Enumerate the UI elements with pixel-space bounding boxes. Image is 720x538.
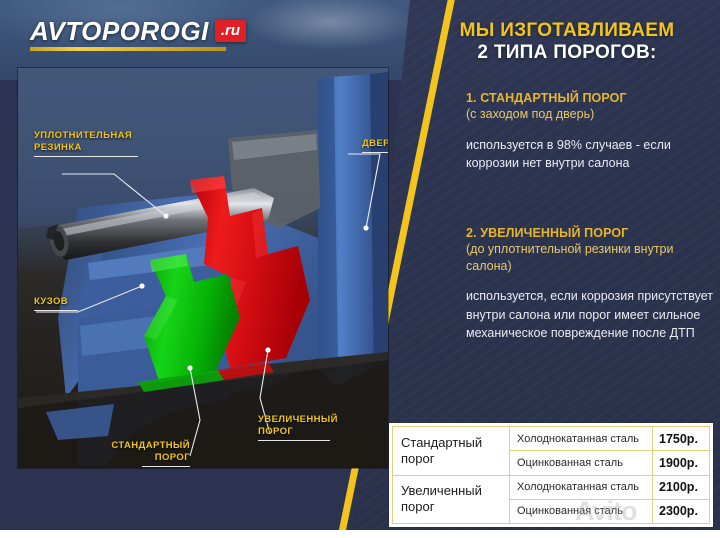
sill-type-1-subtitle: (с заходом под дверь) [466,106,714,123]
label-body-underline [34,310,78,311]
label-enlarged-underline [258,440,330,441]
headline-line2: 2 ТИПА ПОРОГОВ: [428,42,706,64]
sill-type-2-title: 2. УВЕЛИЧЕННЫЙ ПОРОГ [466,225,714,241]
label-enlarged-sill-line1: УВЕЛИЧЕННЫЙ [258,414,338,425]
price-g1-value-1: 1750р. [653,427,710,451]
sill-diagram-illustration [18,68,388,468]
logo-wordmark: AVTOPOROGI [30,18,209,44]
label-door-underline [362,152,388,153]
price-g2-value-2: 2300р. [653,499,710,523]
price-g2-material-1: Холоднокатанная сталь [510,475,653,499]
logo-underline [30,47,226,51]
table-row: Увеличенный порог Холоднокатанная сталь … [393,475,710,499]
logo-row: AVTOPOROGI .ru [30,18,246,44]
table-row: Стандартный порог Холоднокатанная сталь … [393,427,710,451]
label-seal-rubber-line1: УПЛОТНИТЕЛЬНАЯ [34,130,132,141]
label-seal-underline [34,156,138,157]
label-standard-underline [142,466,190,467]
price-g2-value-1: 2100р. [653,475,710,499]
label-body: КУЗОВ [34,296,78,311]
poster-headline: МЫ ИЗГОТАВЛИВАЕМ 2 ТИПА ПОРОГОВ: [428,20,706,65]
sill-type-2-subtitle: (до уплотнительной резинки внутри салона… [466,241,714,274]
sill-type-1-body: используется в 98% случаев - если корроз… [466,136,714,173]
label-enlarged-sill: УВЕЛИЧЕННЫЙ ПОРОГ [258,414,338,441]
sill-type-1-title: 1. СТАНДАРТНЫЙ ПОРОГ [466,90,714,106]
poster-canvas: AVTOPOROGI .ru [0,0,720,538]
label-standard-sill-line1: СТАНДАРТНЫЙ [111,440,190,451]
label-door-text: ДВЕРЬ [362,138,388,149]
headline-line1: МЫ ИЗГОТАВЛИВАЕМ [428,20,706,42]
price-g1-value-2: 1900р. [653,451,710,475]
price-g1-material-1: Холоднокатанная сталь [510,427,653,451]
label-enlarged-sill-line2: ПОРОГ [258,426,293,437]
price-table-container: Стандартный порог Холоднокатанная сталь … [389,423,713,527]
sill-type-1: 1. СТАНДАРТНЫЙ ПОРОГ (с заходом под двер… [466,90,714,172]
label-standard-sill: СТАНДАРТНЫЙ ПОРОГ [64,440,190,467]
bottom-white-strip [0,530,720,538]
price-table: Стандартный порог Холоднокатанная сталь … [392,426,710,524]
price-g1-material-2: Оцинкованная сталь [510,451,653,475]
label-door: ДВЕРЬ [362,138,388,153]
brand-logo[interactable]: AVTOPOROGI .ru [30,18,246,51]
price-g2-material-2: Оцинкованная сталь [510,499,653,523]
sill-type-2-body: используется, если коррозия присутствует… [466,287,714,342]
sill-diagram: УПЛОТНИТЕЛЬНАЯ РЕЗИНКА КУЗОВ ДВЕРЬ СТАНД… [18,68,388,468]
price-group-2-name: Увеличенный порог [393,475,510,524]
label-seal-rubber: УПЛОТНИТЕЛЬНАЯ РЕЗИНКА [34,130,138,157]
label-seal-rubber-line2: РЕЗИНКА [34,142,82,153]
label-body-text: КУЗОВ [34,296,68,307]
sill-type-2: 2. УВЕЛИЧЕННЫЙ ПОРОГ (до уплотнительной … [466,225,714,342]
logo-tld-badge: .ru [215,20,246,42]
label-standard-sill-line2: ПОРОГ [155,452,190,463]
price-group-1-name: Стандартный порог [393,427,510,476]
